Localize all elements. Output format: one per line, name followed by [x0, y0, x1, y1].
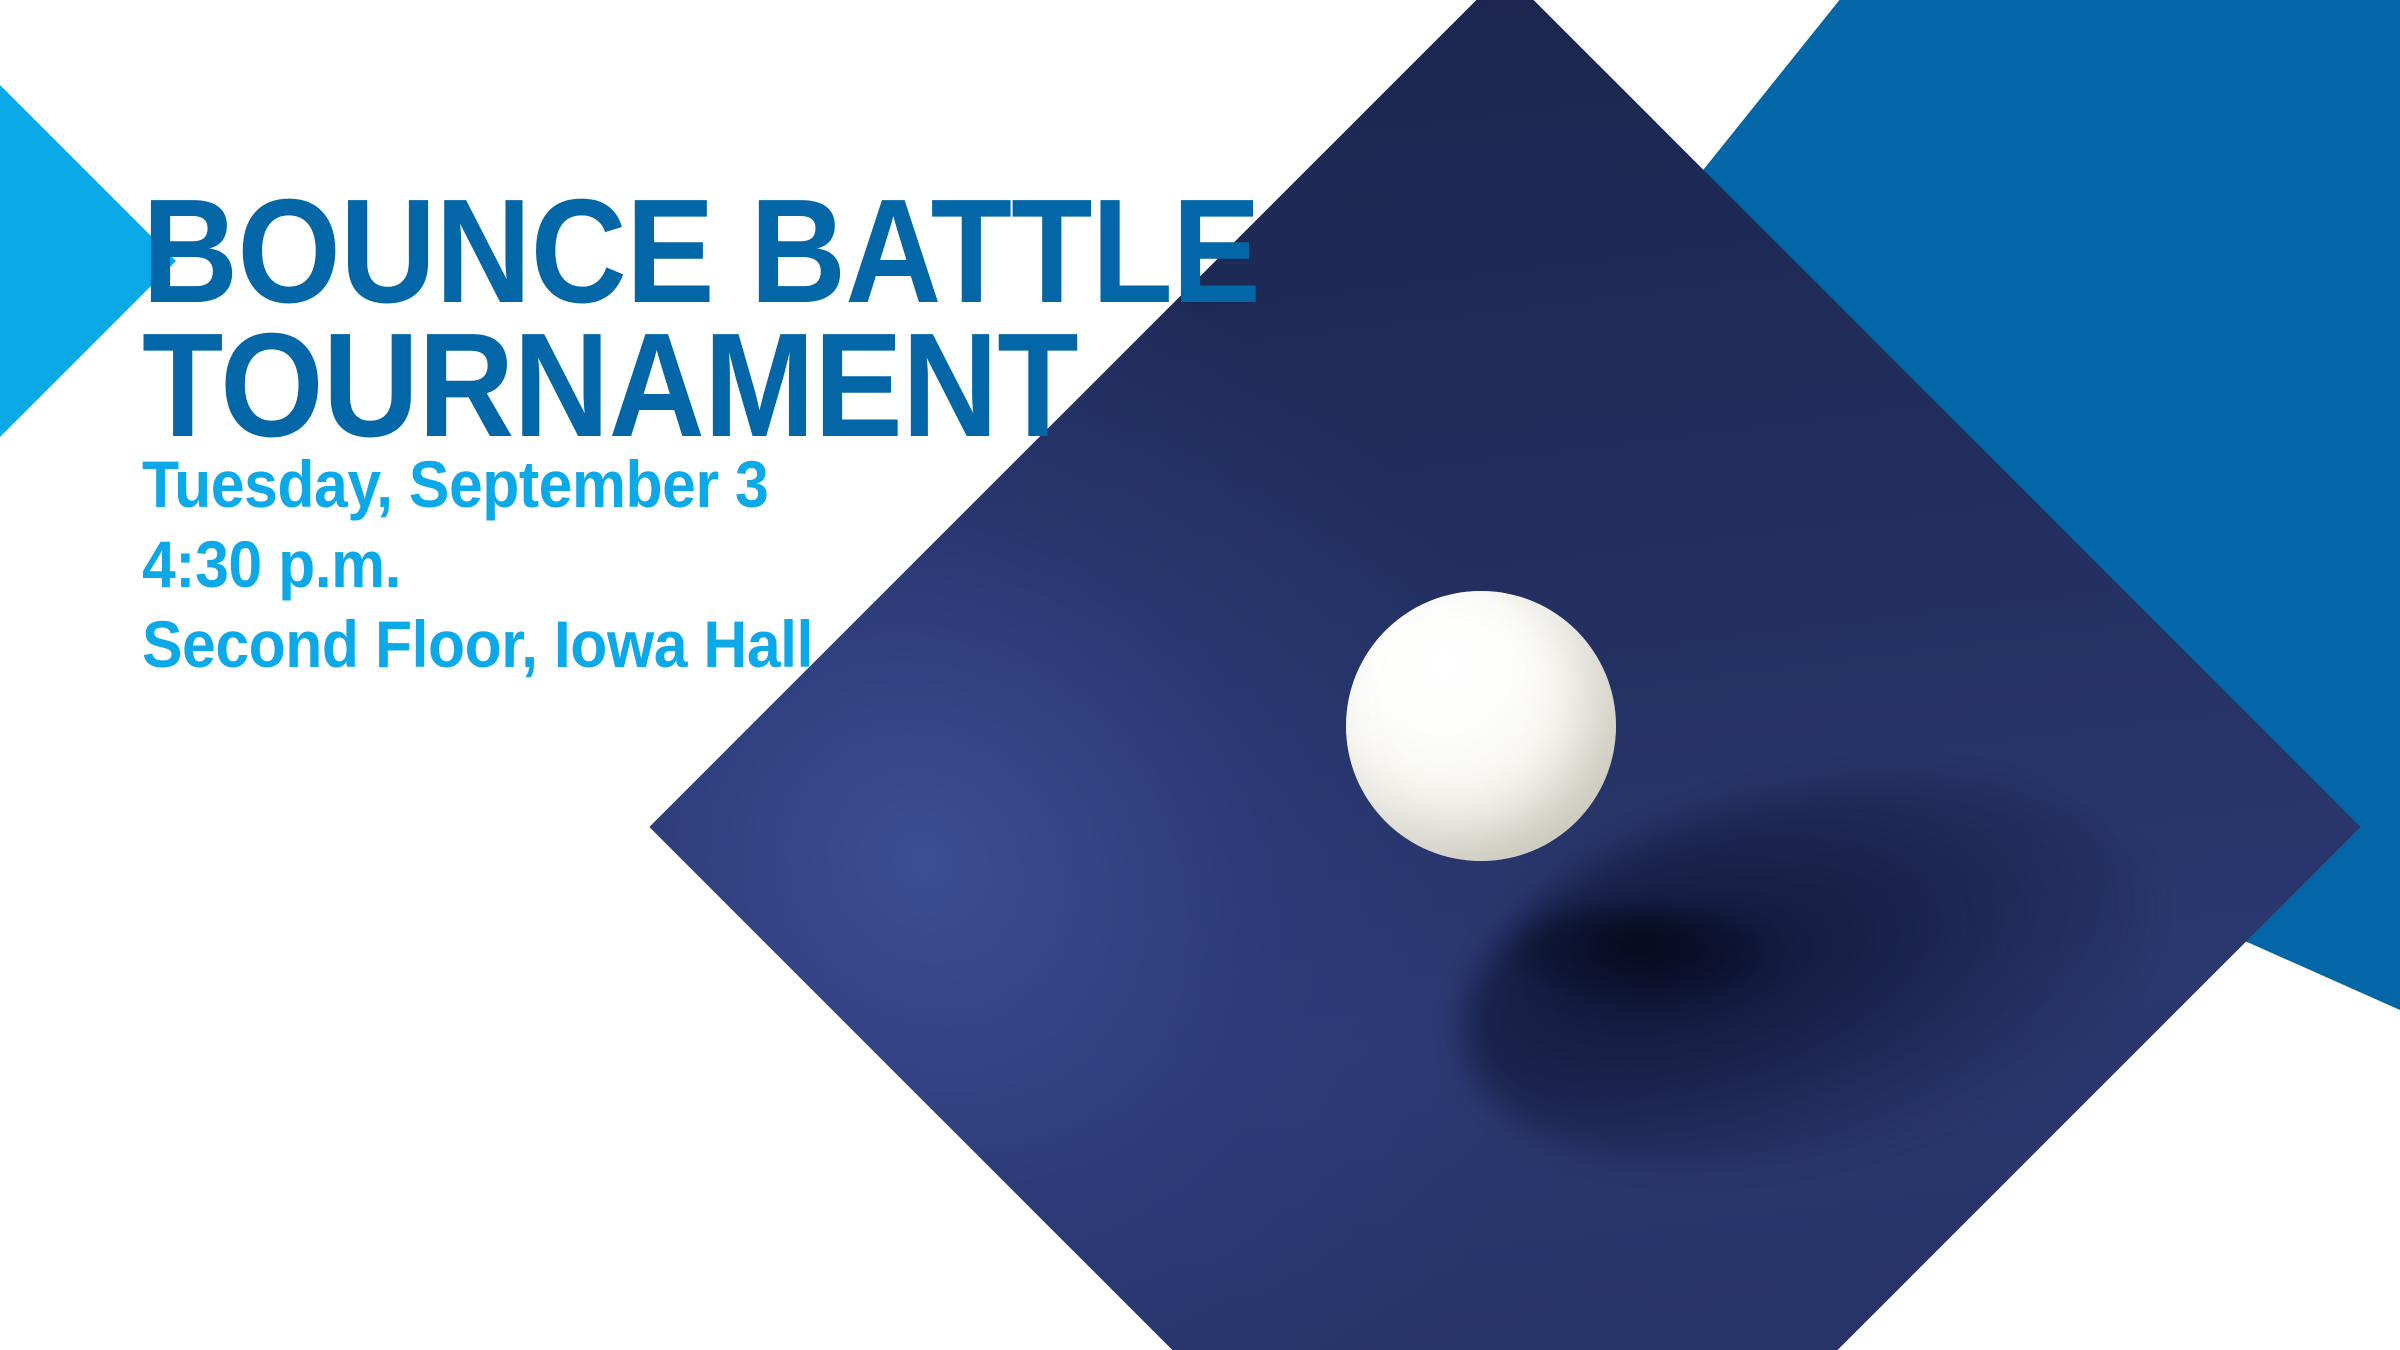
- event-poster: BOUNCE BATTLETOURNAMENT Tuesday, Septemb…: [0, 0, 2400, 1350]
- event-time: 4:30 p.m.: [142, 524, 813, 604]
- event-details: Tuesday, September 3 4:30 p.m. Second Fl…: [142, 444, 813, 684]
- event-date: Tuesday, September 3: [142, 444, 813, 524]
- ping-pong-ball-icon: [1346, 591, 1616, 861]
- page-title: BOUNCE BATTLETOURNAMENT: [142, 185, 1260, 453]
- ball-contact-shadow: [1511, 906, 1765, 1003]
- event-location: Second Floor, Iowa Hall: [142, 604, 813, 684]
